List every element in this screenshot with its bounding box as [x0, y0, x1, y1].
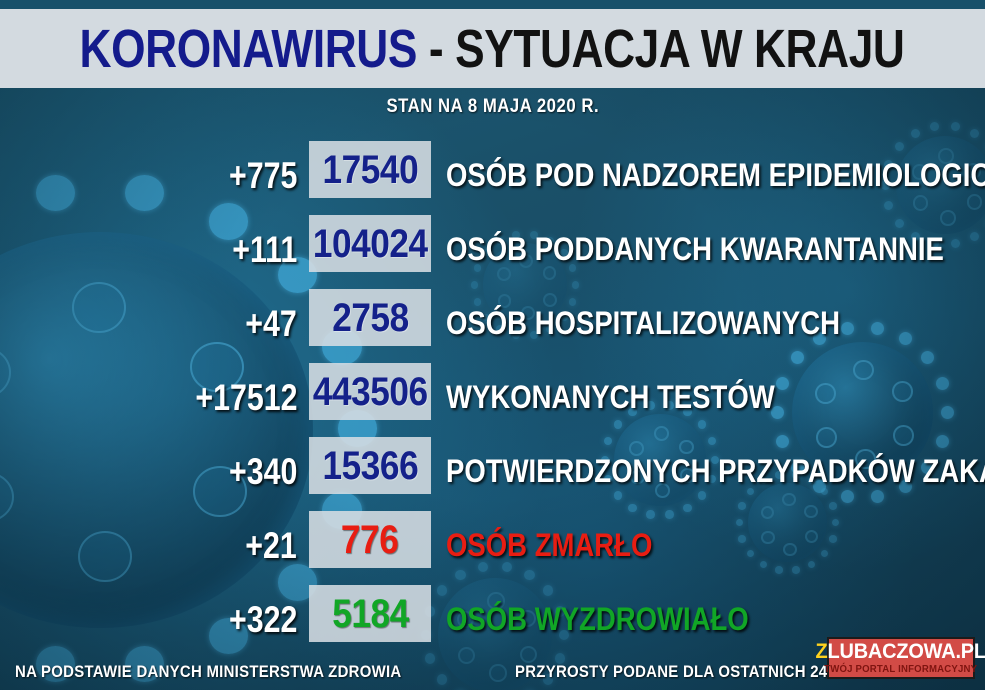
- stat-delta-text: +111: [232, 231, 297, 268]
- stat-row: +775 17540 OSÓB POD NADZOREM EPIDEMIOLOG…: [0, 138, 985, 212]
- stat-value-box: 15366: [309, 437, 431, 494]
- coronavirus-infographic: KORONAWIRUS - SYTUACJA W KRAJU STAN NA 8…: [0, 0, 985, 690]
- logo-tagline: TWÓJ PORTAL INFORMACYJNY: [824, 665, 977, 675]
- statistics-list: +775 17540 OSÓB POD NADZOREM EPIDEMIOLOG…: [0, 138, 985, 656]
- header-band: KORONAWIRUS - SYTUACJA W KRAJU: [0, 9, 985, 88]
- stat-value-box: 443506: [309, 363, 431, 420]
- stat-row: +111 104024 OSÓB PODDANYCH KWARANTANNIE: [0, 212, 985, 286]
- stat-value: 17540: [322, 150, 418, 190]
- logo-first-letter: Z: [816, 640, 828, 663]
- stat-delta-text: +47: [246, 305, 297, 342]
- zlubaczowa-logo[interactable]: ZLUBACZOWA.PL TWÓJ PORTAL INFORMACYJNY: [827, 637, 975, 679]
- logo-wordmark-rest: LUBACZOWA.PL: [828, 640, 985, 663]
- stat-label: OSÓB ZMARŁO: [446, 529, 652, 561]
- stat-value-box: 5184: [309, 585, 431, 642]
- date-subtitle-text: STAN NA 8 MAJA 2020 R.: [386, 96, 599, 118]
- stat-row: +17512 443506 WYKONANYCH TESTÓW: [0, 360, 985, 434]
- footer-source: NA PODSTAWIE DANYCH MINISTERSTWA ZDROWIA: [15, 662, 454, 682]
- date-subtitle: STAN NA 8 MAJA 2020 R.: [0, 96, 985, 118]
- stat-label: OSÓB WYZDROWIAŁO: [446, 603, 749, 635]
- stat-delta-text: +17512: [195, 379, 297, 416]
- stat-value-box: 776: [309, 511, 431, 568]
- stat-value-box: 17540: [309, 141, 431, 198]
- stat-value-box: 104024: [309, 215, 431, 272]
- stat-row-deaths: +21 776 OSÓB ZMARŁO: [0, 508, 985, 582]
- footer-source-text: NA PODSTAWIE DANYCH MINISTERSTWA ZDROWIA: [15, 662, 401, 682]
- page-title: KORONAWIRUS - SYTUACJA W KRAJU: [80, 22, 905, 76]
- stat-delta: +340: [214, 453, 297, 490]
- logo-wordmark: ZLUBACZOWA.PL: [816, 641, 985, 662]
- stat-label: POTWIERDZONYCH PRZYPADKÓW ZAKAŻENIA: [446, 455, 985, 487]
- stat-label: WYKONANYCH TESTÓW: [446, 381, 775, 413]
- stat-value: 776: [341, 520, 398, 560]
- stat-row: +47 2758 OSÓB HOSPITALIZOWANYCH: [0, 286, 985, 360]
- page-title-highlight: KORONAWIRUS: [80, 19, 417, 79]
- stat-value: 104024: [313, 224, 428, 264]
- stat-delta-text: +322: [229, 601, 297, 638]
- page-title-rest: - SYTUACJA W KRAJU: [417, 19, 905, 79]
- stat-label: OSÓB PODDANYCH KWARANTANNIE: [446, 233, 944, 265]
- stat-delta: +17512: [173, 379, 298, 416]
- stat-label: OSÓB HOSPITALIZOWANYCH: [446, 307, 840, 339]
- stat-delta: +775: [214, 157, 297, 194]
- stat-delta: +47: [234, 305, 297, 342]
- stat-delta-text: +775: [229, 157, 297, 194]
- stat-label: OSÓB POD NADZOREM EPIDEMIOLOGICZNYM: [446, 159, 985, 191]
- stat-row: +340 15366 POTWIERDZONYCH PRZYPADKÓW ZAK…: [0, 434, 985, 508]
- footer-note-text: PRZYROSTY PODANE DLA OSTATNICH 24H: [515, 662, 838, 682]
- stat-delta: +111: [218, 231, 297, 268]
- stat-value-box: 2758: [309, 289, 431, 346]
- stat-delta: +322: [214, 601, 297, 638]
- stat-delta-text: +21: [246, 527, 297, 564]
- stat-value: 15366: [322, 446, 418, 486]
- stat-value: 2758: [332, 298, 409, 338]
- stat-delta-text: +340: [229, 453, 297, 490]
- stat-delta: +21: [234, 527, 297, 564]
- stat-value: 5184: [332, 594, 409, 634]
- stat-value: 443506: [313, 372, 428, 412]
- top-strip: [0, 0, 985, 9]
